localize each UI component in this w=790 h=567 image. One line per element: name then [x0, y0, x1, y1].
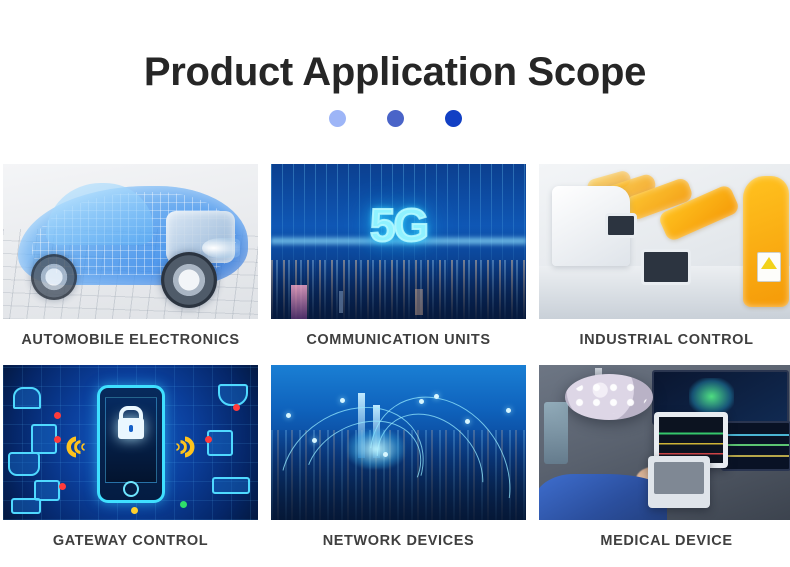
card-communication-units[interactable]: 5G COMMUNICATION UNITS	[271, 164, 526, 365]
wifi-icon-right	[171, 430, 197, 464]
card-medical-device[interactable]: MEDICAL DEVICE	[539, 365, 790, 566]
card-gateway-control[interactable]: GATEWAY CONTROL	[3, 365, 258, 566]
card-label-gateway-control: GATEWAY CONTROL	[3, 520, 258, 566]
5g-overlay-text: 5G	[370, 198, 427, 252]
industrial-robot-arms-photo	[539, 164, 790, 319]
wifi-icon-left	[64, 430, 90, 464]
page-title: Product Application Scope	[0, 0, 790, 94]
dot-1	[329, 110, 346, 127]
card-label-industrial-control: INDUSTRIAL CONTROL	[539, 319, 790, 365]
dot-indicator-row	[0, 109, 790, 127]
application-card-grid: AUTOMOBILE ELECTRONICS 5G COMMUNICATION …	[3, 164, 787, 566]
dot-3	[445, 110, 462, 127]
smart-home-gateway-illustration	[3, 365, 258, 520]
xray-automobile-photo	[3, 164, 258, 319]
card-industrial-control[interactable]: INDUSTRIAL CONTROL	[539, 164, 790, 365]
card-network-devices[interactable]: NETWORK DEVICES	[271, 365, 526, 566]
dot-2	[387, 110, 404, 127]
lock-icon	[118, 418, 144, 439]
operating-room-photo	[539, 365, 790, 520]
network-city-photo	[271, 365, 526, 520]
card-label-communication-units: COMMUNICATION UNITS	[271, 319, 526, 365]
card-label-automobile-electronics: AUTOMOBILE ELECTRONICS	[3, 319, 258, 365]
card-label-network-devices: NETWORK DEVICES	[271, 520, 526, 566]
card-label-medical-device: MEDICAL DEVICE	[539, 520, 790, 566]
5g-city-photo: 5G	[271, 164, 526, 319]
card-automobile-electronics[interactable]: AUTOMOBILE ELECTRONICS	[3, 164, 258, 365]
